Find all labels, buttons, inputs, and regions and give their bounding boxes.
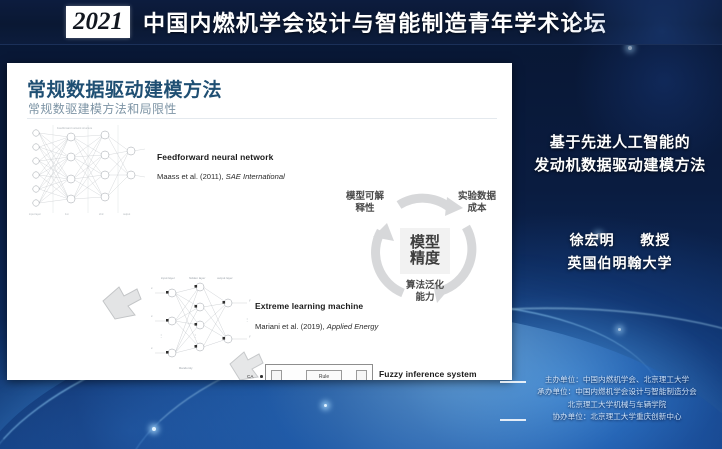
organizer-line-support: 协办单位：北京理工大学重庆创新中心 bbox=[512, 411, 722, 423]
session-title-line1: 基于先进人工智能的 bbox=[520, 131, 720, 154]
banner-year: 2021 bbox=[66, 6, 130, 38]
svg-text:hidden layer: hidden layer bbox=[189, 276, 205, 280]
svg-text:x: x bbox=[151, 314, 153, 318]
session-title: 基于先进人工智能的 发动机数据驱动建模方法 bbox=[520, 131, 720, 178]
cycle-center-label: 模型 精度 bbox=[400, 228, 450, 274]
reference-citation-elm: Mariani et al. (2019), Applied Energy bbox=[255, 321, 405, 332]
slide-title: 常规数据驱动建模方法 bbox=[27, 75, 222, 102]
presentation-slide[interactable]: 常规数据驱动建模方法 常规数驱建模方法和局限性 Feedforward netw… bbox=[7, 63, 512, 380]
light-spark-icon bbox=[628, 46, 632, 50]
reference-citation-ffnn: Maass et al. (2011), SAE International bbox=[157, 171, 297, 182]
rule-block: Rule bbox=[306, 370, 342, 380]
reference-title-fis: Fuzzy inference system bbox=[379, 369, 477, 379]
reference-journal-ffnn: SAE International bbox=[226, 172, 285, 181]
svg-text:x: x bbox=[151, 346, 153, 350]
svg-text:⋮: ⋮ bbox=[245, 317, 249, 322]
svg-text:input layer: input layer bbox=[29, 212, 41, 216]
defuzzification-block: Defuzzification bbox=[356, 370, 367, 380]
svg-text:2nd: 2nd bbox=[99, 212, 104, 216]
speaker-info: 徐宏明 教授 英国伯明翰大学 bbox=[520, 230, 720, 275]
svg-text:1st: 1st bbox=[65, 212, 69, 216]
svg-text:⋮: ⋮ bbox=[193, 333, 197, 338]
model-accuracy-cycle-diagram: 模型 精度 模型可解 释性 实验数据 成本 算法泛化 能力 bbox=[337, 185, 512, 317]
svg-text:input layer: input layer bbox=[161, 276, 175, 280]
svg-text:Randomly: Randomly bbox=[179, 366, 193, 370]
svg-text:output: output bbox=[123, 212, 130, 216]
cycle-label-generalization: 算法泛化 能力 bbox=[387, 280, 463, 304]
fuzzy-input-pin-icon bbox=[260, 375, 263, 378]
slide-subtitle: 常规数驱建模方法和局限性 bbox=[28, 100, 177, 117]
svg-text:Feedforward network structure: Feedforward network structure bbox=[57, 126, 93, 130]
svg-text:output layer: output layer bbox=[217, 276, 233, 280]
speaker-affiliation: 英国伯明翰大学 bbox=[520, 253, 720, 276]
organizer-list: 主办单位：中国内燃机学会、北京理工大学 承办单位：中国内燃机学会设计与智能制造分… bbox=[512, 374, 722, 423]
organizer-line-coorganizer-2: 北京理工大学机械与车辆学院 bbox=[512, 399, 722, 411]
organizer-line-host: 主办单位：中国内燃机学会、北京理工大学 bbox=[512, 374, 722, 386]
reference-journal-elm: Applied Energy bbox=[327, 322, 379, 331]
slide-title-divider bbox=[27, 118, 497, 119]
svg-text:y: y bbox=[249, 298, 251, 302]
fuzzy-inference-block-diagram: Fuzzification Rule Fuzzy Interface Defuz… bbox=[265, 364, 373, 380]
svg-text:⋮: ⋮ bbox=[159, 333, 163, 338]
flow-arrow-icon bbox=[97, 285, 145, 331]
fuzzy-input-label-ca: CA bbox=[247, 374, 253, 379]
reference-authors-elm: Mariani et al. (2019), bbox=[255, 322, 327, 331]
speaker-role: 教授 bbox=[640, 233, 670, 249]
event-banner: 2021 中国内燃机学会设计与智能制造青年学术论坛 bbox=[0, 0, 722, 45]
speaker-name: 徐宏明 bbox=[570, 233, 615, 249]
light-spark-icon bbox=[152, 427, 156, 431]
light-spark-icon bbox=[324, 404, 327, 407]
light-spark-icon bbox=[618, 328, 621, 331]
session-title-line2: 发动机数据驱动建模方法 bbox=[520, 154, 720, 177]
cycle-center-line2: 精度 bbox=[410, 251, 440, 267]
svg-text:y: y bbox=[249, 334, 251, 338]
cycle-label-interpretability: 模型可解 释性 bbox=[335, 191, 395, 215]
fuzzification-block: Fuzzification bbox=[271, 370, 282, 380]
banner-title: 中国内燃机学会设计与智能制造青年学术论坛 bbox=[143, 6, 607, 38]
feedforward-network-diagram: Feedforward network structure input laye… bbox=[23, 123, 149, 219]
cycle-label-experiment-cost: 实验数据 成本 bbox=[449, 191, 505, 215]
organizer-line-coorganizer: 承办单位：中国内燃机学会设计与智能制造分会 bbox=[512, 386, 722, 398]
svg-text:x: x bbox=[151, 286, 153, 290]
reference-authors-ffnn: Maass et al. (2011), bbox=[157, 172, 226, 181]
reference-title-ffnn: Feedforward neural network bbox=[157, 152, 273, 162]
